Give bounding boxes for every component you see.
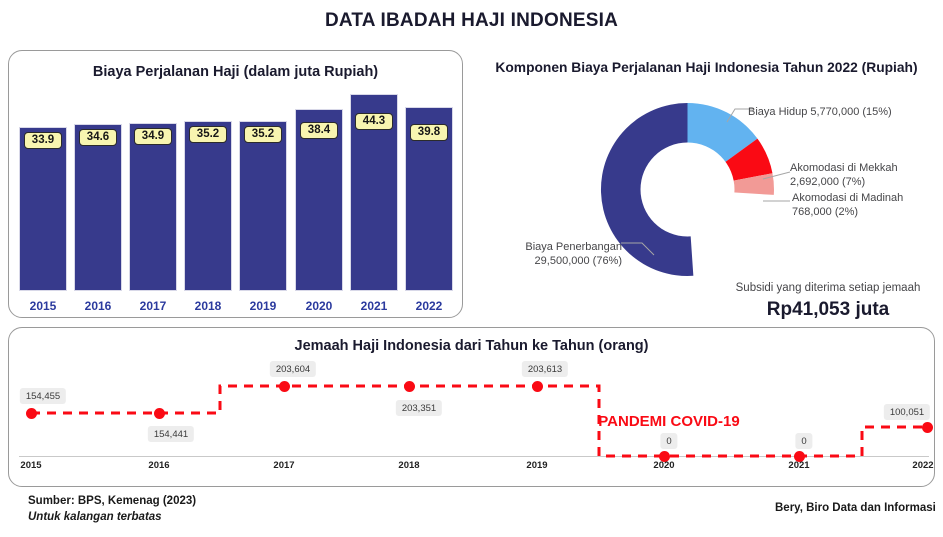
bar-chart-plot: 33.9 2015 34.6 2016 34.9 2017 35.2 2018 …	[19, 85, 454, 317]
line-value-2021: 0	[795, 433, 812, 449]
bar-value-2019: 35.2	[244, 126, 282, 144]
subsidy-caption: Subsidi yang diterima setiap jemaah	[713, 282, 943, 294]
line-point-2018[interactable]	[404, 381, 415, 392]
bar-value-2017: 34.9	[134, 128, 172, 146]
bar-value-2018: 35.2	[189, 126, 227, 144]
bar-2019[interactable]	[239, 121, 287, 291]
bar-2018[interactable]	[184, 121, 232, 291]
line-value-2020: 0	[660, 433, 677, 449]
line-x-label-2016: 2016	[148, 460, 169, 471]
bar-column-2016[interactable]: 34.6 2016	[74, 85, 122, 317]
donut-chart-section: Komponen Biaya Perjalanan Haji Indonesia…	[470, 50, 943, 320]
donut-label-biaya-hidup-text: Biaya Hidup 5,770,000 (15%)	[748, 105, 892, 119]
line-x-label-2021: 2021	[788, 460, 809, 471]
line-x-label-2017: 2017	[273, 460, 294, 471]
leader-line-penerbangan	[620, 236, 656, 258]
bar-column-2019[interactable]: 35.2 2019	[239, 85, 287, 317]
line-value-2019: 203,613	[522, 361, 568, 377]
bar-year-2022: 2022	[405, 299, 453, 313]
line-point-2022[interactable]	[922, 422, 933, 433]
bar-column-2022[interactable]: 39.8 2022	[405, 85, 453, 317]
donut-chart-title: Komponen Biaya Perjalanan Haji Indonesia…	[470, 60, 943, 75]
bar-chart-panel: Biaya Perjalanan Haji (dalam juta Rupiah…	[8, 50, 463, 318]
donut-hole	[641, 143, 735, 237]
donut-label-penerbangan: Biaya Penerbangan 29,500,000 (76%)	[482, 240, 622, 268]
line-chart-plot: 154,455 154,441 203,604 203,351 203,613 …	[9, 328, 936, 488]
bar-value-2016: 34.6	[79, 129, 117, 147]
bar-value-2020: 38.4	[300, 122, 338, 140]
bar-year-2018: 2018	[184, 299, 232, 313]
line-value-2018: 203,351	[396, 400, 442, 416]
bar-year-2019: 2019	[239, 299, 287, 313]
bar-chart-title: Biaya Perjalanan Haji (dalam juta Rupiah…	[9, 64, 462, 80]
bar-year-2015: 2015	[19, 299, 67, 313]
leader-line-akomodasi-mekkah	[762, 168, 792, 182]
donut-label-penerbangan-line1: Biaya Penerbangan	[482, 240, 622, 254]
donut-label-akomodasi-madinah-line1: Akomodasi di Madinah	[792, 191, 903, 205]
bar-year-2016: 2016	[74, 299, 122, 313]
donut-label-penerbangan-line2: 29,500,000 (76%)	[482, 254, 622, 268]
donut-label-akomodasi-mekkah-line1: Akomodasi di Mekkah	[790, 161, 898, 175]
line-chart-panel: Jemaah Haji Indonesia dari Tahun ke Tahu…	[8, 327, 935, 487]
bar-2016[interactable]	[74, 124, 122, 291]
line-x-label-2015: 2015	[20, 460, 41, 471]
bar-column-2021[interactable]: 44.3 2021	[350, 85, 398, 317]
footer-credit: Bery, Biro Data dan Informasi	[775, 502, 936, 514]
line-x-label-2018: 2018	[398, 460, 419, 471]
bar-column-2017[interactable]: 34.9 2017	[129, 85, 177, 317]
line-x-label-2019: 2019	[526, 460, 547, 471]
bar-year-2020: 2020	[295, 299, 343, 313]
covid-annotation: PANDEMI COVID-19	[598, 413, 739, 430]
donut-label-akomodasi-madinah: Akomodasi di Madinah 768,000 (2%)	[792, 191, 903, 219]
donut-label-akomodasi-mekkah-line2: 2,692,000 (7%)	[790, 175, 898, 189]
donut-label-akomodasi-madinah-line2: 768,000 (2%)	[792, 205, 903, 219]
leader-line-akomodasi-madinah	[762, 198, 792, 210]
bar-column-2020[interactable]: 38.4 2020	[295, 85, 343, 317]
line-value-2016: 154,441	[148, 426, 194, 442]
bar-2017[interactable]	[129, 123, 177, 291]
subsidy-value: Rp41,053 juta	[713, 299, 943, 321]
line-point-2019[interactable]	[532, 381, 543, 392]
page-title: DATA IBADAH HAJI INDONESIA	[0, 10, 943, 32]
footer-source: Sumber: BPS, Kemenag (2023)	[28, 495, 196, 507]
bar-year-2021: 2021	[350, 299, 398, 313]
bar-2015[interactable]	[19, 127, 67, 291]
line-point-2015[interactable]	[26, 408, 37, 419]
bar-column-2015[interactable]: 33.9 2015	[19, 85, 67, 317]
footer-note: Untuk kalangan terbatas	[28, 511, 162, 523]
line-point-2016[interactable]	[154, 408, 165, 419]
donut-label-biaya-hidup: Biaya Hidup 5,770,000 (15%)	[748, 105, 892, 119]
line-value-2022: 100,051	[884, 404, 930, 420]
bar-year-2017: 2017	[129, 299, 177, 313]
line-x-label-2020: 2020	[653, 460, 674, 471]
line-value-2017: 203,604	[270, 361, 316, 377]
line-value-2015: 154,455	[20, 388, 66, 404]
step-line-path	[31, 386, 927, 456]
bar-value-2022: 39.8	[410, 124, 448, 142]
bar-value-2015: 33.9	[24, 132, 62, 150]
donut-label-akomodasi-mekkah: Akomodasi di Mekkah 2,692,000 (7%)	[790, 161, 898, 189]
bar-column-2018[interactable]: 35.2 2018	[184, 85, 232, 317]
line-x-label-2022: 2022	[912, 460, 933, 471]
bar-value-2021: 44.3	[355, 113, 393, 131]
line-point-2017[interactable]	[279, 381, 290, 392]
